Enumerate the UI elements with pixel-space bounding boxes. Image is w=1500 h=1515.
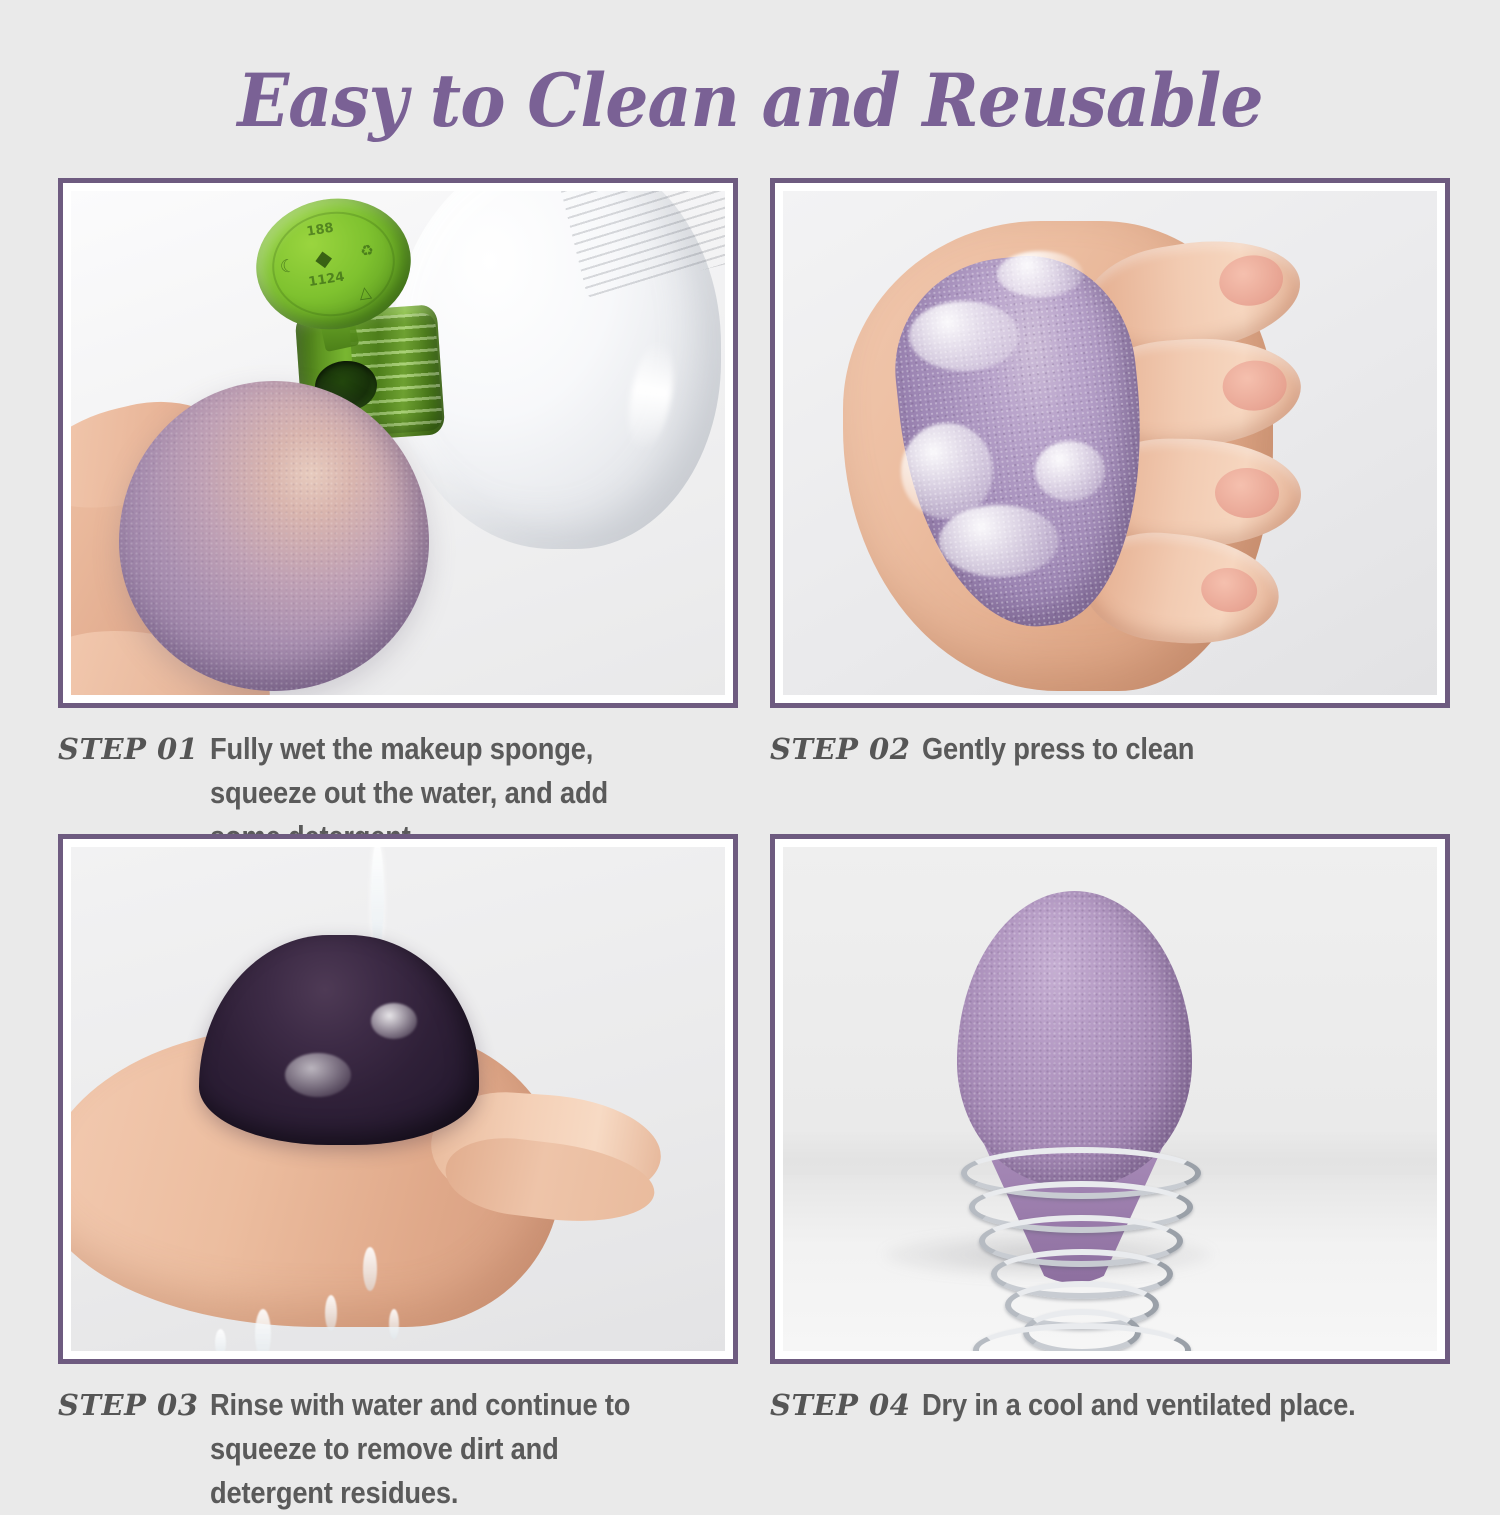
- water-drip: [255, 1309, 271, 1351]
- step-03-caption: STEP 03 Rinse with water and continue to…: [58, 1383, 738, 1515]
- cap-recycle-icon: ♻: [359, 241, 375, 261]
- cap-moon-icon: ☾: [278, 255, 297, 278]
- step-01-photo: 188 1124 △ ☾ ♻ ◆: [71, 191, 725, 695]
- step-02-text: Gently press to clean: [922, 727, 1387, 771]
- sponge-water-highlight: [371, 1003, 417, 1039]
- water-drip: [325, 1295, 337, 1331]
- water-drip: [215, 1329, 226, 1351]
- step-04-text: Dry in a cool and ventilated place.: [922, 1383, 1387, 1427]
- step-card-02: STEP 02 Gently press to clean: [770, 178, 1450, 771]
- step-02-photo: [783, 191, 1437, 695]
- fingernail: [1216, 251, 1287, 310]
- page-title: Easy to Clean and Reusable: [53, 58, 1448, 144]
- soap-foam: [909, 301, 1019, 371]
- step-01-photo-frame: 188 1124 △ ☾ ♻ ◆: [58, 178, 738, 708]
- step-04-photo-frame: [770, 834, 1450, 1364]
- cap-symbol-middle: 1124: [307, 270, 345, 290]
- water-drip: [389, 1309, 399, 1339]
- water-drip: [363, 1247, 377, 1291]
- soap-foam: [997, 251, 1083, 297]
- step-card-01: 188 1124 △ ☾ ♻ ◆ STEP 01 Fully wet the m…: [58, 178, 738, 859]
- fingernail: [1215, 467, 1280, 518]
- soap-foam: [1035, 441, 1105, 501]
- sponge-water-highlight: [285, 1053, 351, 1097]
- step-03-label: STEP 03: [58, 1383, 210, 1427]
- cap-symbol-top: 188: [306, 221, 335, 240]
- step-02-photo-frame: [770, 178, 1450, 708]
- step-01-label: STEP 01: [58, 727, 210, 771]
- soap-foam: [901, 423, 993, 519]
- soap-foam: [939, 505, 1059, 577]
- step-card-03: STEP 03 Rinse with water and continue to…: [58, 834, 738, 1515]
- step-03-photo: [71, 847, 725, 1351]
- step-03-text: Rinse with water and continue to squeeze…: [210, 1383, 675, 1515]
- fingernail: [1199, 565, 1259, 615]
- makeup-sponge: [119, 381, 429, 691]
- step-04-photo: [783, 847, 1437, 1351]
- step-04-label: STEP 04: [770, 1383, 922, 1427]
- step-card-04: STEP 04 Dry in a cool and ventilated pla…: [770, 834, 1450, 1427]
- step-04-caption: STEP 04 Dry in a cool and ventilated pla…: [770, 1383, 1450, 1427]
- cap-emboss-icon: ◆: [313, 245, 334, 272]
- step-02-caption: STEP 02 Gently press to clean: [770, 727, 1450, 771]
- cap-warning-icon: △: [357, 282, 372, 303]
- fingernail: [1221, 358, 1288, 412]
- step-03-photo-frame: [58, 834, 738, 1364]
- sponge-texture: [119, 381, 429, 691]
- step-02-label: STEP 02: [770, 727, 922, 771]
